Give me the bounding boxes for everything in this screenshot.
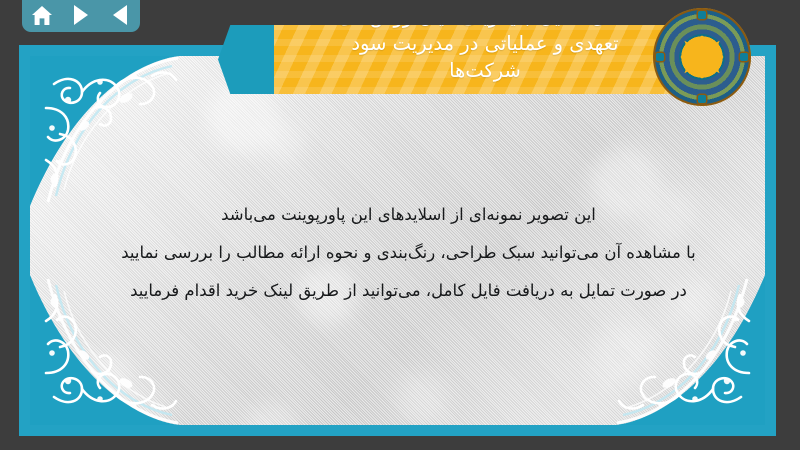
home-button[interactable] <box>29 3 55 27</box>
bokeh-circle <box>244 402 302 425</box>
bokeh-circle <box>122 386 168 425</box>
medallion-dot <box>698 11 706 19</box>
slide-canvas: این تصویر نمونه‌ای از اسلایدهای این پاور… <box>19 45 776 436</box>
page-title: کامل تحلیل جایگزینی میان روش‌های تعهدی و… <box>278 25 692 84</box>
title-banner-arrow <box>218 25 274 94</box>
bokeh-circle <box>398 372 448 422</box>
bokeh-circle <box>590 324 654 388</box>
navigation-bar <box>22 0 140 32</box>
slide-body-text: این تصویر نمونه‌ای از اسلایدهای این پاور… <box>70 196 747 310</box>
medallion-dot <box>656 53 664 61</box>
triangle-left-icon <box>113 5 127 25</box>
medallion-star-icon <box>680 35 724 79</box>
triangle-right-icon <box>74 5 88 25</box>
body-line: در صورت تمایل به دریافت فایل کامل، می‌تو… <box>70 272 747 310</box>
bokeh-circle <box>262 118 306 162</box>
slide-viewer: این تصویر نمونه‌ای از اسلایدهای این پاور… <box>0 0 800 450</box>
home-icon <box>31 5 53 26</box>
body-line: با مشاهده آن می‌توانید سبک طراحی، رنگ‌بن… <box>70 234 747 272</box>
body-line: این تصویر نمونه‌ای از اسلایدهای این پاور… <box>70 196 747 234</box>
medallion-dot <box>698 95 706 103</box>
arabesque-corner-ornament <box>30 56 180 206</box>
slide-content-panel: این تصویر نمونه‌ای از اسلایدهای این پاور… <box>30 56 765 425</box>
next-slide-button[interactable] <box>68 3 94 27</box>
previous-slide-button[interactable] <box>107 3 133 27</box>
bokeh-circle <box>82 352 136 406</box>
medallion-dot <box>740 53 748 61</box>
persian-medallion-ornament <box>653 8 751 106</box>
slide-title-banner: کامل تحلیل جایگزینی میان روش‌های تعهدی و… <box>218 25 698 94</box>
